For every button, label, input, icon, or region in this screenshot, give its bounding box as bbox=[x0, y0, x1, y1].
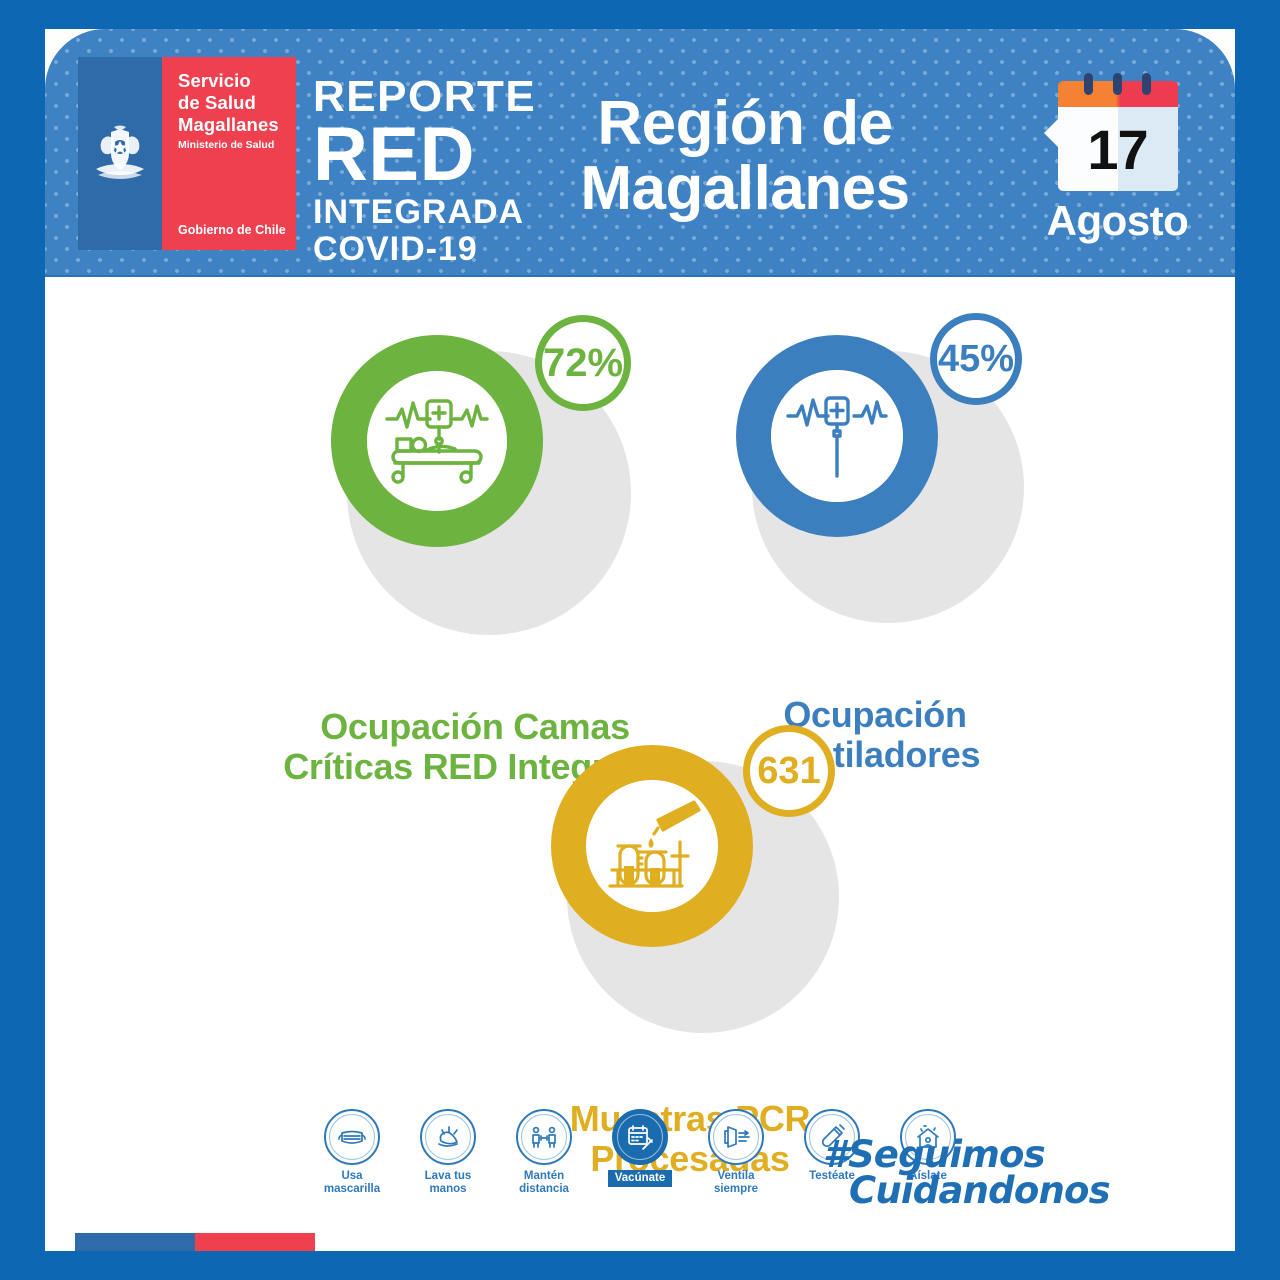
header-band: Servicio de Salud Magallanes Ministerio … bbox=[45, 29, 1235, 277]
metric-pcr-value: 631 bbox=[757, 750, 820, 793]
prevention-label-ventilate: Ventila siempre bbox=[695, 1170, 777, 1196]
metric-beds-donut-wrap: 72% bbox=[325, 329, 625, 629]
metric-beds-icon-holder bbox=[367, 371, 507, 511]
metric-beds-value-badge: 72% bbox=[535, 315, 631, 411]
region-title: Región de Magallanes bbox=[485, 91, 1005, 221]
service-name-line3: Magallanes bbox=[178, 114, 279, 135]
metric-ventilators-donut bbox=[736, 335, 938, 537]
ministry-logo: Servicio de Salud Magallanes Ministerio … bbox=[78, 57, 296, 250]
metric-pcr-value-badge: 631 bbox=[743, 725, 835, 817]
prevention-label-mask-line1: Usa bbox=[341, 1170, 362, 1182]
prevention-label-vaccinate: Vacúnate bbox=[608, 1170, 673, 1187]
metric-beds-value: 72% bbox=[543, 341, 623, 386]
flag-strip-blue bbox=[75, 1233, 195, 1251]
metric-pcr-donut bbox=[551, 745, 753, 947]
calendar-ring-1 bbox=[1084, 73, 1093, 95]
infographic-card: Servicio de Salud Magallanes Ministerio … bbox=[45, 29, 1235, 1251]
prevention-item-distance[interactable]: Mantén distancia bbox=[503, 1109, 585, 1196]
ventilator-monitor-icon bbox=[786, 388, 888, 484]
prevention-item-wash-hands[interactable]: Lava tus manos bbox=[407, 1109, 489, 1196]
prevention-label-ventilate-line2: siempre bbox=[714, 1183, 758, 1195]
date-badge: 17 Agosto bbox=[1030, 59, 1205, 245]
prevention-label-wash-hands-line2: manos bbox=[429, 1183, 466, 1195]
region-title-line2: Magallanes bbox=[580, 154, 909, 223]
prevention-label-distance: Mantén distancia bbox=[503, 1170, 585, 1196]
metric-beds-donut bbox=[331, 335, 543, 547]
vaccine-calendar-icon-circle[interactable] bbox=[612, 1109, 668, 1165]
ministry-name-panel: Servicio de Salud Magallanes Ministerio … bbox=[162, 57, 296, 250]
prevention-label-wash-hands: Lava tus manos bbox=[407, 1170, 489, 1196]
prevention-label-ventilate-line1: Ventila bbox=[717, 1170, 754, 1182]
test-tubes-pipette-icon bbox=[598, 794, 706, 898]
social-distance-icon-circle[interactable] bbox=[516, 1109, 572, 1165]
calendar-day-number: 17 bbox=[1058, 107, 1178, 191]
service-name-line1: Servicio bbox=[178, 70, 251, 91]
service-name: Servicio de Salud Magallanes bbox=[178, 70, 296, 135]
prevention-label-wash-hands-line1: Lava tus bbox=[425, 1170, 472, 1182]
region-title-line1: Región de bbox=[597, 89, 892, 158]
prevention-item-mask[interactable]: Usa mascarilla bbox=[311, 1109, 393, 1196]
calendar-ring-3 bbox=[1142, 73, 1151, 95]
prevention-item-vaccinate[interactable]: Vacúnate bbox=[599, 1109, 681, 1187]
prevention-label-distance-line2: distancia bbox=[519, 1183, 569, 1195]
metric-ventilators-icon-holder bbox=[771, 370, 903, 502]
calendar-month-label: Agosto bbox=[1030, 197, 1205, 245]
calendar-icon: 17 bbox=[1058, 81, 1178, 191]
metric-ventilators-value-badge: 45% bbox=[930, 313, 1022, 405]
report-title-covid: COVID-19 bbox=[313, 232, 536, 266]
metric-pcr-icon-holder bbox=[586, 780, 718, 912]
prevention-label-mask-line2: mascarilla bbox=[324, 1183, 380, 1195]
metric-ventilators-value: 45% bbox=[938, 338, 1014, 381]
calendar-ring-2 bbox=[1113, 73, 1122, 95]
campaign-hashtag: #Seguimos Cuidandonos bbox=[823, 1137, 1110, 1210]
coat-of-arms-panel bbox=[78, 57, 162, 250]
metric-beds: 72% Ocupación Camas Críticas RED Integra… bbox=[235, 329, 715, 788]
metric-ventilators-donut-wrap: 45% bbox=[730, 329, 1020, 619]
metric-pcr-donut-wrap: 631 bbox=[545, 739, 835, 1029]
chile-coat-of-arms-icon bbox=[89, 123, 151, 185]
prevention-label-mask: Usa mascarilla bbox=[311, 1170, 393, 1196]
chile-flag-strip bbox=[75, 1233, 315, 1251]
ministry-subtitle: Ministerio de Salud bbox=[178, 139, 296, 151]
ventilate-window-icon-circle[interactable] bbox=[708, 1109, 764, 1165]
face-mask-icon-circle[interactable] bbox=[324, 1109, 380, 1165]
wash-hands-icon-circle[interactable] bbox=[420, 1109, 476, 1165]
service-name-line2: de Salud bbox=[178, 92, 256, 113]
campaign-hashtag-line2: Cuidandonos bbox=[849, 1173, 1110, 1209]
government-label: Gobierno de Chile bbox=[178, 223, 286, 237]
hospital-bed-monitor-icon bbox=[385, 395, 489, 487]
prevention-label-distance-line1: Mantén bbox=[524, 1170, 564, 1182]
prevention-item-ventilate[interactable]: Ventila siempre bbox=[695, 1109, 777, 1196]
flag-strip-red bbox=[195, 1233, 315, 1251]
metric-ventilators-label-line1: Ocupación bbox=[783, 694, 966, 735]
metric-ventilators: 45% Ocupación Ventiladores bbox=[650, 329, 1100, 776]
